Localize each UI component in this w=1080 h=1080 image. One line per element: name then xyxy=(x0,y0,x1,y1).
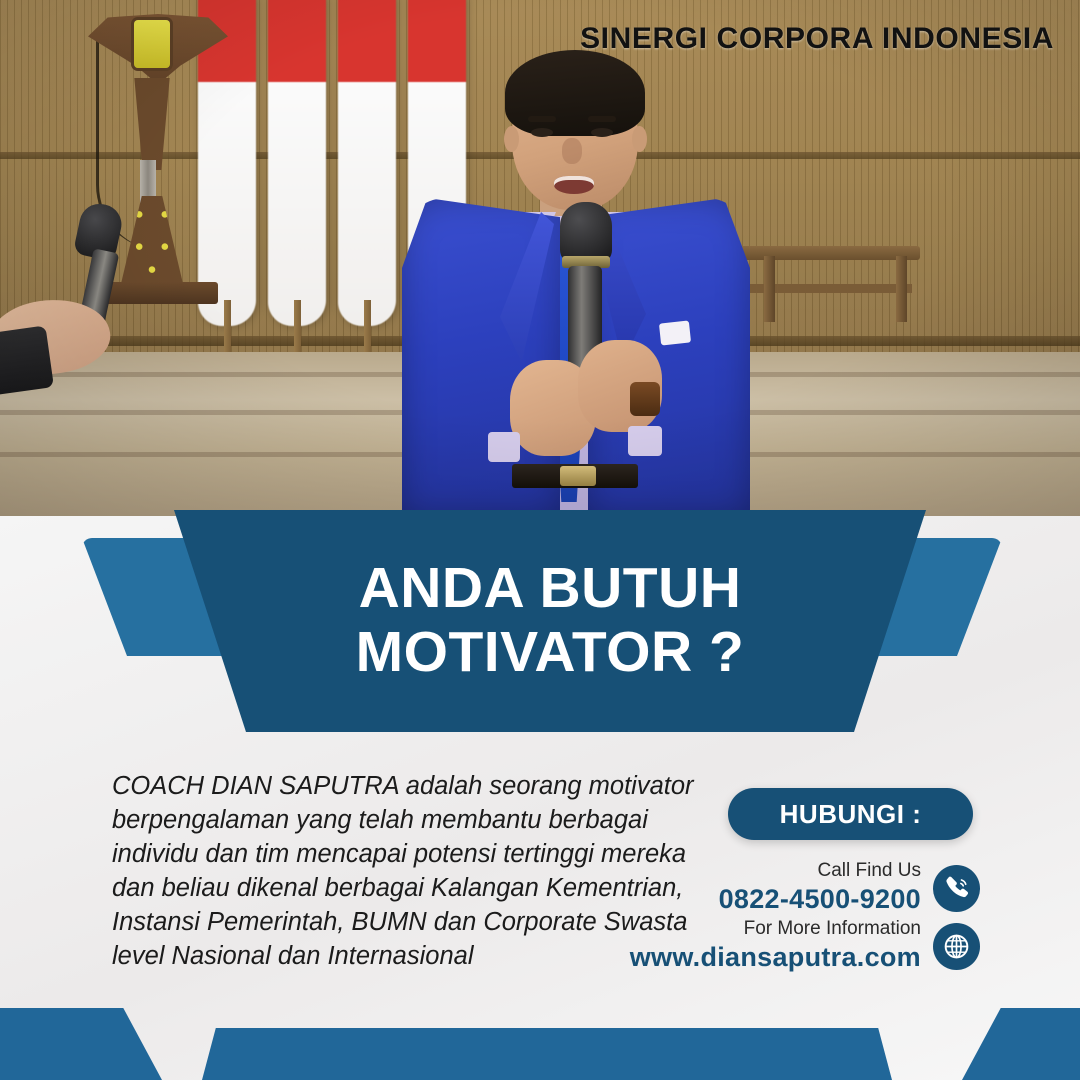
contact-heading-pill[interactable]: HUBUNGI : xyxy=(728,788,973,840)
contact-phone-row[interactable]: Call Find Us 0822-4500-9200 xyxy=(700,860,980,917)
bottom-shape-center xyxy=(202,1028,892,1080)
contact-website-row[interactable]: For More Information www.diansaputra.com xyxy=(640,918,980,975)
phone-call-icon[interactable] xyxy=(933,865,980,912)
poster-canvas: SINERGI CORPORA INDONESIA ANDA BUTUH MOT… xyxy=(0,0,1080,1080)
title-line-2: MOTIVATOR ? xyxy=(356,621,745,685)
contact-website-value[interactable]: www.diansaputra.com xyxy=(630,941,921,975)
bottom-shape-right xyxy=(962,1008,1080,1080)
contact-website-text: For More Information www.diansaputra.com xyxy=(630,918,921,975)
hero-photo xyxy=(0,0,1080,516)
title-banner-text: ANDA BUTUH MOTIVATOR ? xyxy=(150,510,950,732)
title-line-1: ANDA BUTUH xyxy=(359,557,742,621)
contact-phone-value[interactable]: 0822-4500-9200 xyxy=(719,883,921,917)
contact-website-label: For More Information xyxy=(744,918,921,941)
photo-vignette xyxy=(0,0,1080,516)
contact-phone-text: Call Find Us 0822-4500-9200 xyxy=(719,860,921,917)
brand-title: SINERGI CORPORA INDONESIA xyxy=(580,22,1054,56)
contact-phone-label: Call Find Us xyxy=(818,860,921,883)
globe-icon[interactable] xyxy=(933,923,980,970)
bottom-shape-left xyxy=(0,1008,162,1080)
